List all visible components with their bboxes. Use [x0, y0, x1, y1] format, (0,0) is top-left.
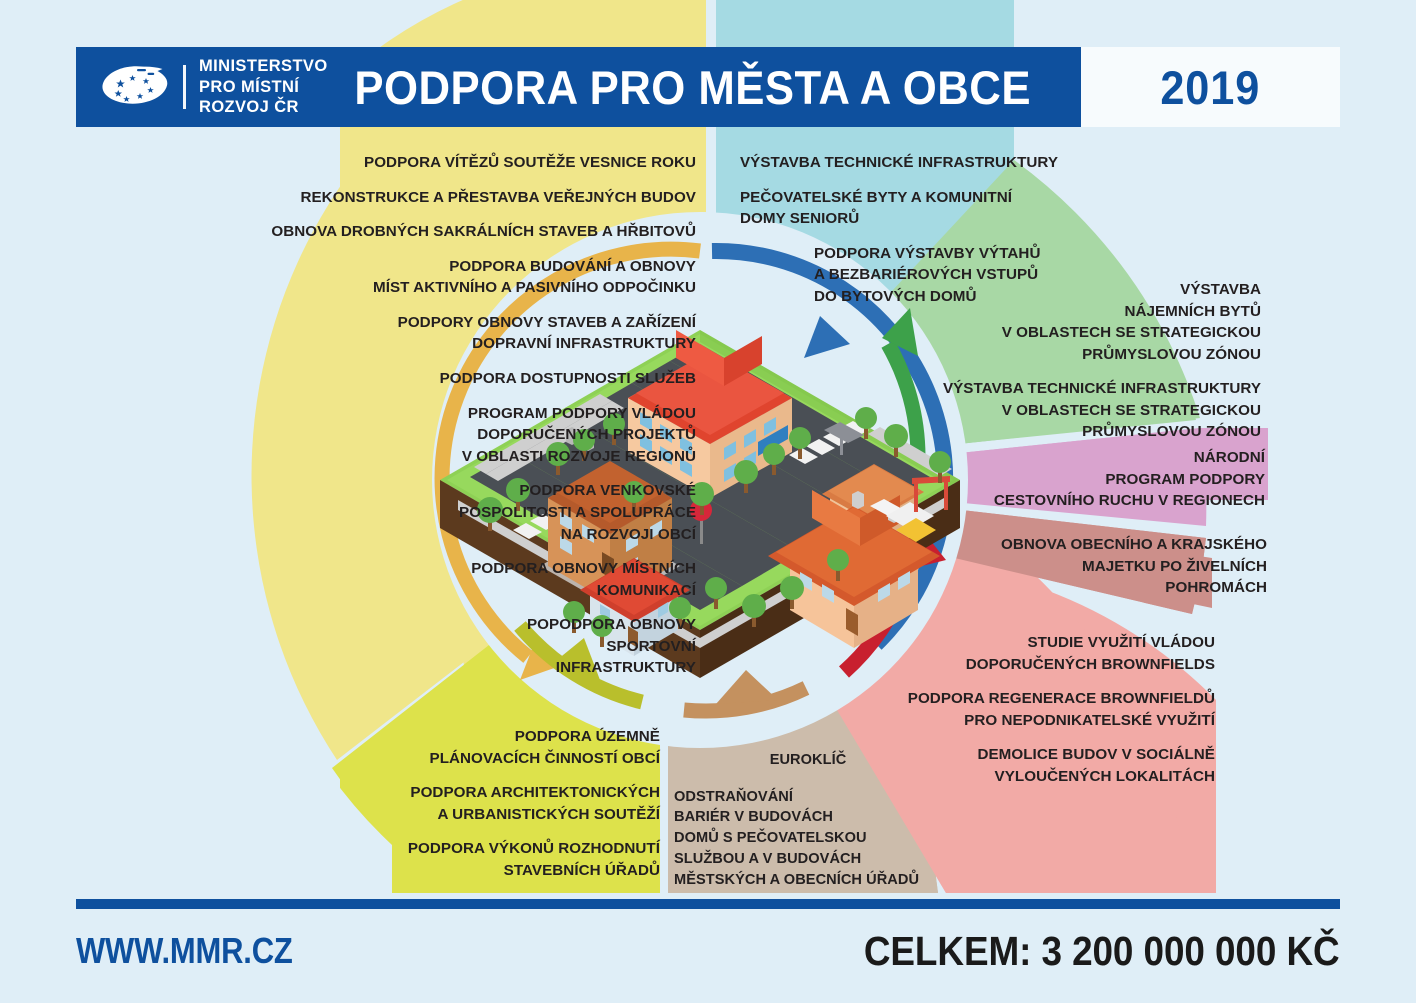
programme-item: PODPORY OBNOVY STAVEB A ZAŘÍZENÍDOPRAVNÍ… [176, 312, 696, 355]
programme-item: ODSTRAŇOVÁNÍBARIÉR V BUDOVÁCHDOMŮ S PEČO… [674, 787, 942, 891]
programme-item: REKONSTRUKCE A PŘESTAVBA VEŘEJNÝCH BUDOV [176, 187, 696, 209]
ministry-name: MINISTERSTVO PRO MÍSTNÍ ROZVOJ ČR [199, 56, 328, 118]
programme-item: PODPORA VÝSTAVBY VÝTAHŮA BEZBARIÉROVÝCH … [814, 243, 1070, 308]
programme-item: PODPORA REGENERACE BROWNFIELDŮPRO NEPODN… [905, 688, 1215, 731]
programme-item: DEMOLICE BUDOV V SOCIÁLNĚVYLOUČENÝCH LOK… [905, 744, 1215, 787]
programme-item: VÝSTAVBA TECHNICKÉ INFRASTRUKTURYV OBLAS… [925, 378, 1261, 443]
programme-item: OBNOVA OBECNÍHO A KRAJSKÉHOMAJETKU PO ŽI… [985, 534, 1267, 599]
segment-heading-tan: EUROKLÍČ [674, 750, 942, 771]
ministry-line-3: ROZVOJ ČR [199, 97, 328, 118]
header-year-panel: 2019 [1081, 47, 1340, 127]
programme-item: NÁRODNÍPROGRAM PODPORYCESTOVNÍHO RUCHU V… [975, 447, 1265, 512]
header-bar: MINISTERSTVO PRO MÍSTNÍ ROZVOJ ČR PODPOR… [76, 47, 1340, 127]
footer-divider [76, 899, 1340, 909]
segment-label-purple: NÁRODNÍPROGRAM PODPORYCESTOVNÍHO RUCHU V… [975, 447, 1265, 512]
programme-item: PROGRAM PODPORY VLÁDOUDOPORUČENÝCH PROJE… [176, 403, 696, 468]
segment-label-yellow: PODPORA VÍTĚZŮ SOUTĚŽE VESNICE ROKUREKON… [176, 152, 696, 679]
page-title: PODPORA PRO MĚSTA A OBCE [354, 60, 1055, 115]
programme-item: VÝSTAVBA TECHNICKÉ INFRASTRUKTURY [740, 152, 1070, 174]
segment-label-tan: EUROKLÍČODSTRAŇOVÁNÍBARIÉR V BUDOVÁCHDOM… [674, 750, 942, 890]
ministry-line-1: MINISTERSTVO [199, 56, 328, 77]
programme-item: OBNOVA DROBNÝCH SAKRÁLNÍCH STAVEB A HŘBI… [176, 221, 696, 243]
total-amount: CELKEM: 3 200 000 000 KČ [864, 928, 1340, 975]
footer-bar: WWW.MMR.CZ CELKEM: 3 200 000 000 KČ [76, 920, 1340, 982]
mmr-swirl-logo-icon [98, 63, 170, 111]
segment-label-rose: OBNOVA OBECNÍHO A KRAJSKÉHOMAJETKU PO ŽI… [985, 534, 1267, 599]
programme-item: STUDIE VYUŽITÍ VLÁDOUDOPORUČENÝCH BROWNF… [905, 632, 1215, 675]
programme-item: PODPORA VÝKONŮ ROZHODNUTÍSTAVEBNÍCH ÚŘAD… [330, 838, 660, 881]
arc-tan-head-fg [716, 670, 778, 704]
programme-item: PODPORA BUDOVÁNÍ A OBNOVYMÍST AKTIVNÍHO … [176, 256, 696, 299]
logo-divider [183, 65, 186, 109]
header-blue-panel: MINISTERSTVO PRO MÍSTNÍ ROZVOJ ČR PODPOR… [76, 47, 1081, 127]
programme-item: PODPORA VENKOVSKÉPOSPOLITOSTI A SPOLUPRÁ… [176, 480, 696, 545]
segment-label-blue: VÝSTAVBA TECHNICKÉ INFRASTRUKTURYPEČOVAT… [740, 152, 1070, 307]
programme-item: PODPORA DOSTUPNOSTI SLUŽEB [176, 368, 696, 390]
ministry-logo-block: MINISTERSTVO PRO MÍSTNÍ ROZVOJ ČR [76, 56, 328, 118]
segment-label-lime: PODPORA ÚZEMNĚPLÁNOVACÍCH ČINNOSTÍ OBCÍP… [330, 726, 660, 881]
year-label: 2019 [1161, 60, 1261, 115]
programme-item: PODPORA VÍTĚZŮ SOUTĚŽE VESNICE ROKU [176, 152, 696, 174]
programme-item: POPODPORA OBNOVYSPORTOVNÍINFRASTRUKTURY [176, 614, 696, 679]
programme-item: PEČOVATELSKÉ BYTY A KOMUNITNÍDOMY SENIOR… [740, 187, 1070, 230]
programme-item: PODPORA ARCHITEKTONICKÝCHA URBANISTICKÝC… [330, 782, 660, 825]
segment-label-pink: STUDIE VYUŽITÍ VLÁDOUDOPORUČENÝCH BROWNF… [905, 632, 1215, 787]
arc-blue-head-fg [804, 316, 850, 358]
infographic-canvas: MINISTERSTVO PRO MÍSTNÍ ROZVOJ ČR PODPOR… [0, 0, 1416, 1003]
programme-item: PODPORA ÚZEMNĚPLÁNOVACÍCH ČINNOSTÍ OBCÍ [330, 726, 660, 769]
ministry-line-2: PRO MÍSTNÍ [199, 77, 328, 98]
website-link[interactable]: WWW.MMR.CZ [76, 930, 293, 972]
programme-item: PODPORA OBNOVY MÍSTNÍCHKOMUNIKACÍ [176, 558, 696, 601]
